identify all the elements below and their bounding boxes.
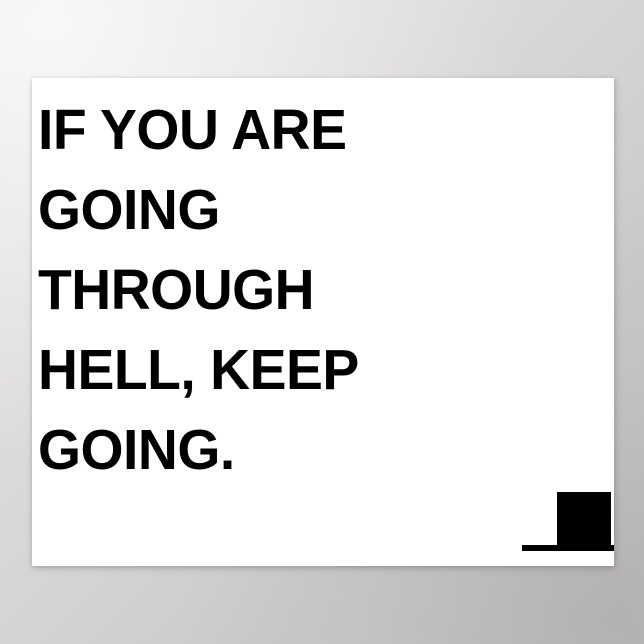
poster-scene: IF YOU ARE GOING THROUGH HELL, KEEP GOIN… xyxy=(0,0,644,644)
quote-line-2: GOING xyxy=(38,170,523,250)
top-hat-crown xyxy=(557,492,611,546)
top-hat-icon xyxy=(520,492,614,552)
top-hat-brim xyxy=(522,545,614,551)
quote-line-4: HELL, KEEP xyxy=(38,330,523,410)
poster-sheet: IF YOU ARE GOING THROUGH HELL, KEEP GOIN… xyxy=(32,78,614,566)
quote-line-5: GOING. xyxy=(38,410,523,490)
quote-line-1: IF YOU ARE xyxy=(38,90,523,170)
quote-text: IF YOU ARE GOING THROUGH HELL, KEEP GOIN… xyxy=(38,90,538,490)
quote-line-3: THROUGH xyxy=(38,250,523,330)
